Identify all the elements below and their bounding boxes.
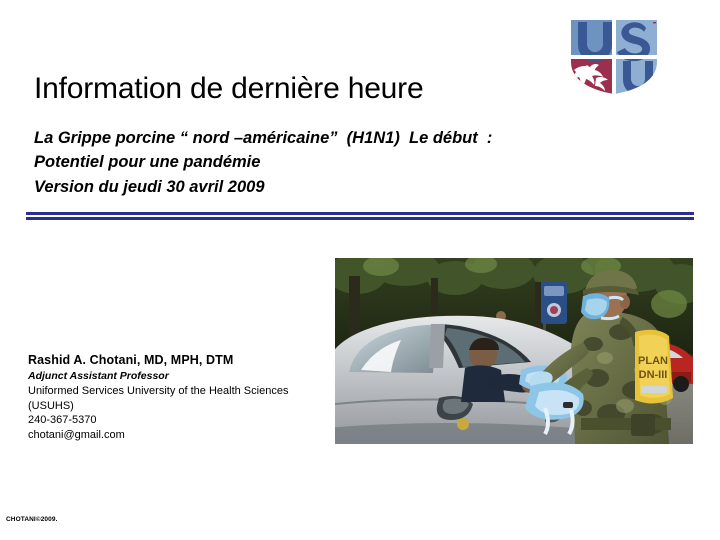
photo-yellow-vest: PLAN DN-III (635, 330, 673, 404)
subtitle-line-1: La Grippe porcine “ nord –américaine” (H… (34, 126, 492, 150)
author-email[interactable]: chotani@gmail.com (28, 428, 328, 443)
rule-line-upper (26, 212, 694, 215)
page-title: Information de dernière heure (34, 72, 423, 105)
photo-wristwatch (563, 402, 573, 408)
subtitle-block: La Grippe porcine “ nord –américaine” (H… (34, 126, 492, 199)
subtitle-line-2: Potentiel pour une pandémie (34, 150, 492, 174)
logo-divider-horizontal (568, 55, 660, 59)
photo-belt-pouch (631, 414, 655, 436)
author-role: Adjunct Assistant Professor (28, 370, 328, 384)
usu-shield-logo (568, 18, 660, 96)
author-affiliation-line2: (USUHS) (28, 399, 328, 414)
subtitle-line-3: Version du jeudi 30 avril 2009 (34, 175, 492, 199)
photo-vest-text-line1: PLAN (638, 355, 668, 367)
author-name: Rashid A. Chotani, MD, MPH, DTM (28, 352, 328, 369)
logo-tick-mark (653, 22, 656, 23)
copyright-footer: CHOTANI©2009. (6, 516, 57, 523)
slide-canvas: Information de dernière heure La Grippe … (0, 0, 720, 540)
photo-vest-text-line2: DN-III (639, 369, 668, 381)
author-block: Rashid A. Chotani, MD, MPH, DTM Adjunct … (28, 352, 328, 442)
double-rule-divider (26, 212, 694, 220)
rule-line-lower (26, 217, 694, 220)
photo-belt (581, 418, 671, 430)
logo-quadrant-bottom-right (614, 57, 660, 96)
soldier-distributing-masks-photo: PLAN DN-III (335, 258, 693, 444)
author-affiliation-line1: Uniformed Services University of the Hea… (28, 384, 328, 399)
photo-car-emblem (457, 418, 469, 430)
author-phone: 240-367-5370 (28, 413, 328, 428)
